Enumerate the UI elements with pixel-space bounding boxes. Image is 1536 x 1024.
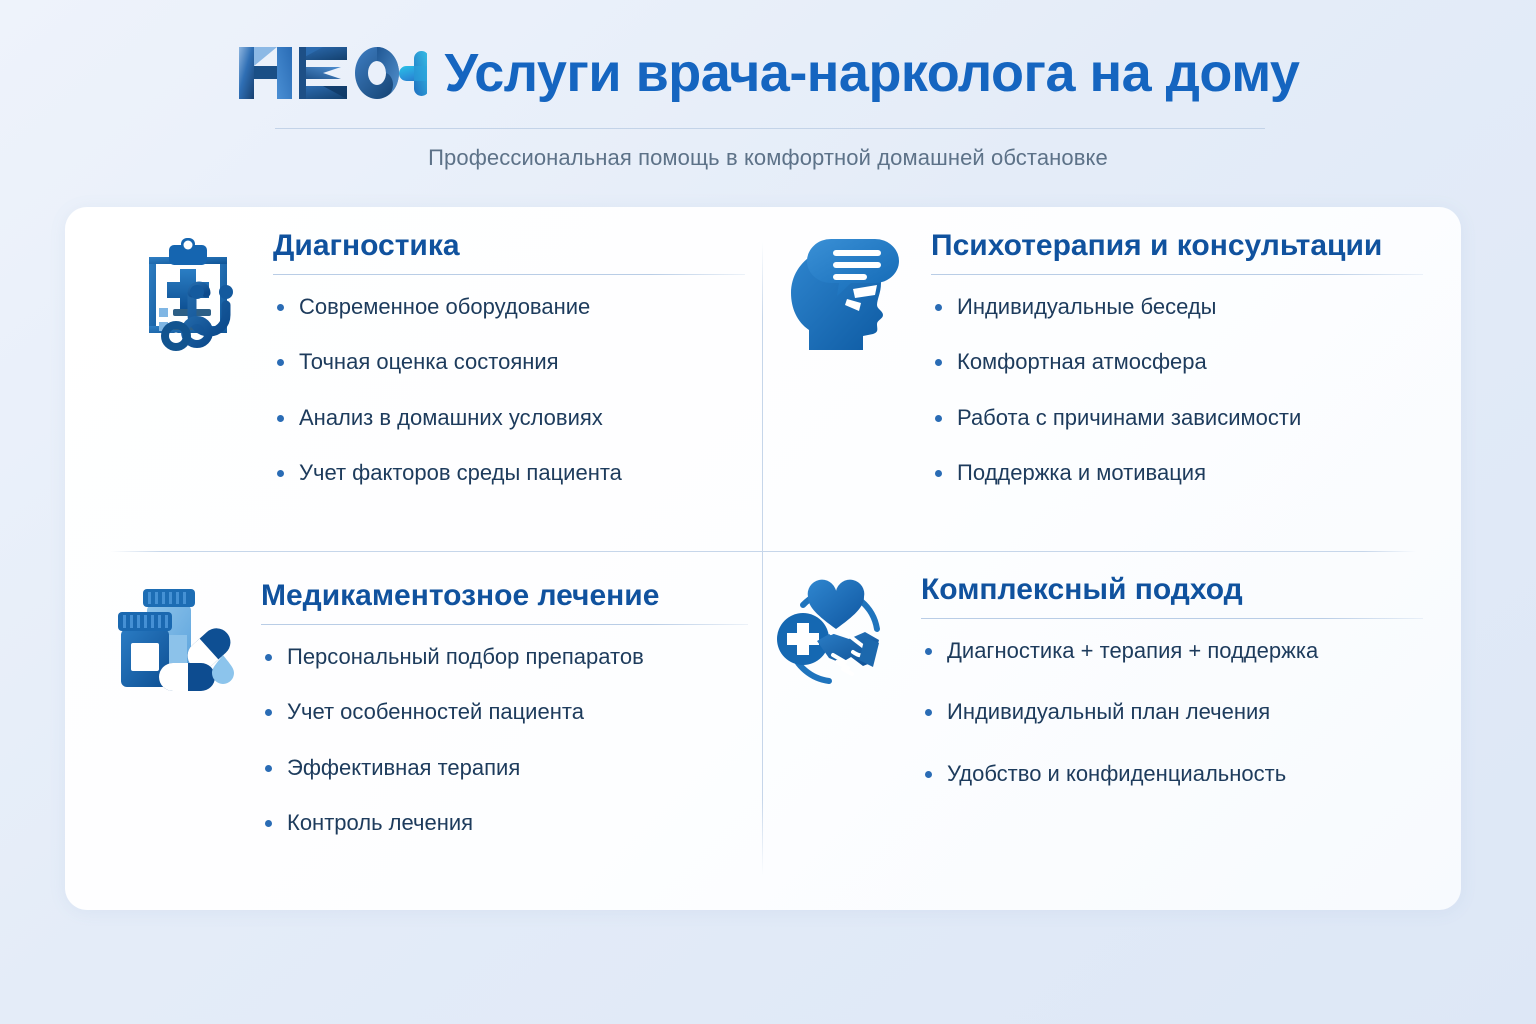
- list-item: Точная оценка состояния: [273, 348, 745, 376]
- list-item: Учет факторов среды пациента: [273, 459, 745, 487]
- card-body: Комплексный подход Диагностика + терапия…: [921, 569, 1423, 821]
- list-item: Удобство и конфиденциальность: [921, 760, 1423, 788]
- pill-bottles-capsules-icon: [113, 575, 239, 709]
- service-card-medication[interactable]: Медикаментозное лечение Персональный под…: [113, 575, 748, 837]
- card-heading: Психотерапия и консультации: [931, 229, 1423, 264]
- card-bullet-list: Современное оборудование Точная оценка с…: [273, 275, 745, 487]
- page-subtitle: Профессиональная помощь в комфортной дом…: [0, 145, 1536, 171]
- list-item: Работа с причинами зависимости: [931, 404, 1423, 432]
- page-title: Услуги врача-нарколога на дому: [445, 45, 1300, 102]
- card-body: Медикаментозное лечение Персональный под…: [261, 575, 748, 837]
- card-bullet-list: Диагностика + терапия + поддержка Индиви…: [921, 619, 1423, 788]
- services-grid: Диагностика Современное оборудование Точ…: [65, 207, 1461, 910]
- handshake-heart-cross-icon: [773, 569, 899, 703]
- service-card-psychotherapy[interactable]: Психотерапия и консультации Индивидуальн…: [783, 225, 1423, 487]
- brand-row: Услуги врача-нарколога на дому: [0, 38, 1536, 108]
- list-item: Анализ в домашних условиях: [273, 404, 745, 432]
- clipboard-stethoscope-icon: [125, 225, 251, 359]
- list-item: Индивидуальный план лечения: [921, 698, 1423, 726]
- card-heading: Медикаментозное лечение: [261, 579, 748, 614]
- card-body: Психотерапия и консультации Индивидуальн…: [931, 225, 1423, 487]
- head-speech-bubble-icon: [783, 225, 909, 359]
- grid-vertical-divider: [762, 242, 763, 875]
- list-item: Диагностика + терапия + поддержка: [921, 637, 1423, 665]
- page-header: Услуги врача-нарколога на дому Профессио…: [0, 0, 1536, 200]
- list-item: Поддержка и мотивация: [931, 459, 1423, 487]
- card-bullet-list: Персональный подбор препаратов Учет особ…: [261, 625, 748, 837]
- header-divider: [275, 128, 1265, 129]
- card-bullet-list: Индивидуальные беседы Комфортная атмосфе…: [931, 275, 1423, 487]
- list-item: Персональный подбор препаратов: [261, 643, 748, 671]
- card-heading: Диагностика: [273, 229, 745, 264]
- neo-plus-logo: [237, 38, 427, 108]
- service-card-complex-approach[interactable]: Комплексный подход Диагностика + терапия…: [773, 569, 1423, 821]
- list-item: Эффективная терапия: [261, 754, 748, 782]
- list-item: Современное оборудование: [273, 293, 745, 321]
- list-item: Учет особенностей пациента: [261, 698, 748, 726]
- service-card-diagnostics[interactable]: Диагностика Современное оборудование Точ…: [125, 225, 745, 487]
- services-panel: Диагностика Современное оборудование Точ…: [65, 207, 1461, 910]
- card-heading: Комплексный подход: [921, 573, 1423, 608]
- list-item: Контроль лечения: [261, 809, 748, 837]
- list-item: Комфортная атмосфера: [931, 348, 1423, 376]
- list-item: Индивидуальные беседы: [931, 293, 1423, 321]
- grid-horizontal-divider: [110, 551, 1416, 552]
- card-body: Диагностика Современное оборудование Точ…: [273, 225, 745, 487]
